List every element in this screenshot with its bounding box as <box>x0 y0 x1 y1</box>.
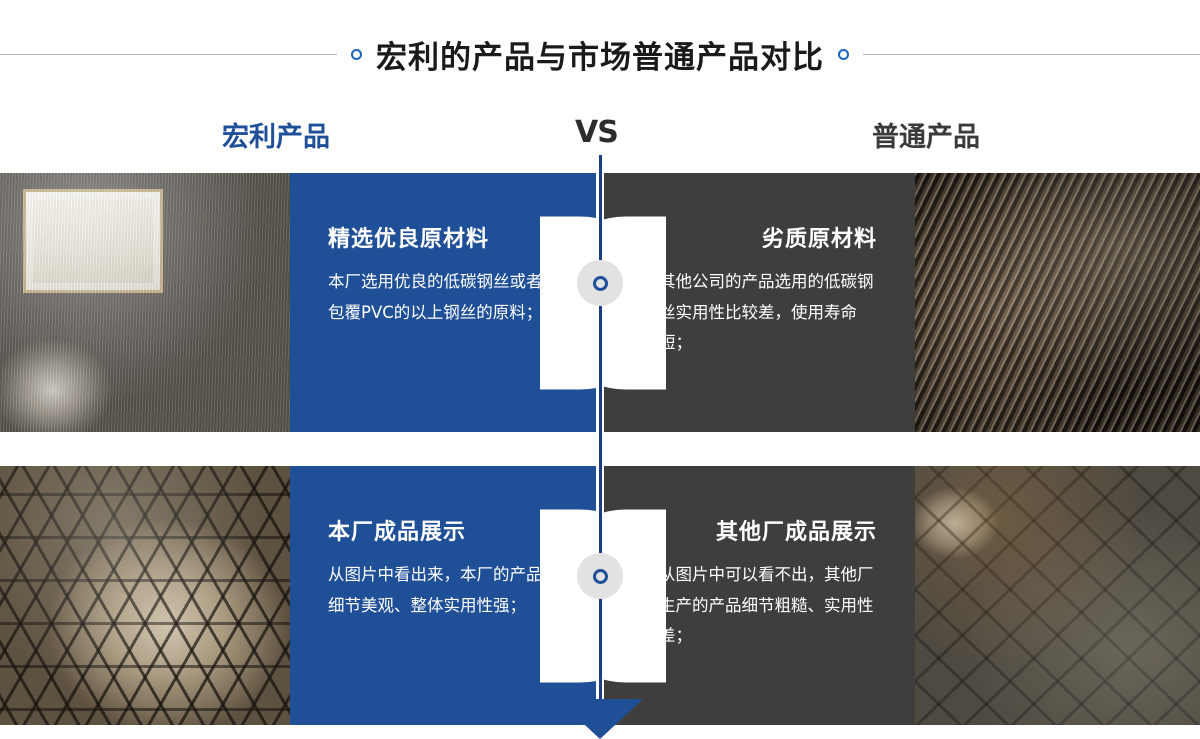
photo-our-material <box>0 173 290 432</box>
panel-our-finished-product: 本厂成品展示 从图片中看出来，本厂的产品细节美观、整体实用性强； <box>290 466 603 725</box>
page-title-bar: 宏利的产品与市场普通产品对比 <box>0 0 1200 108</box>
panel-title: 其他厂成品展示 <box>633 514 886 546</box>
panel-our-material: 精选优良原材料 本厂选用优良的低碳钢丝或者包覆PVC的以上钢丝的原料； <box>290 173 603 432</box>
panel-ordinary-finished-product: 其他厂成品展示 从图片中可以看不出，其他厂生产的产品细节粗糙、实用性差； <box>603 466 916 725</box>
heading-vs: VS <box>575 115 618 150</box>
ring-node-icon <box>593 569 608 584</box>
panel-body: 从图片中看出来，本厂的产品细节美观、整体实用性强； <box>328 560 546 621</box>
spine-node-1 <box>577 260 623 306</box>
rusty-wire-rod-image <box>915 173 1200 432</box>
page-title: 宏利的产品与市场普通产品对比 <box>376 32 824 77</box>
panel-body: 其他公司的产品选用的低碳钢丝实用性比较差，使用寿命短； <box>659 267 877 359</box>
photo-ordinary-finished-product <box>915 466 1200 725</box>
loose-boulders-image <box>915 466 1200 725</box>
title-rule-right <box>863 54 1200 55</box>
photo-ordinary-material <box>915 173 1200 432</box>
title-dot-left-icon <box>351 49 362 60</box>
panel-body: 本厂选用优良的低碳钢丝或者包覆PVC的以上钢丝的原料； <box>328 267 546 328</box>
panel-title: 劣质原材料 <box>633 221 886 253</box>
title-dot-right-icon <box>838 49 849 60</box>
photo-our-finished-product <box>0 466 290 725</box>
heading-ordinary-product: 普通产品 <box>872 115 980 154</box>
ring-node-icon <box>593 276 608 291</box>
steel-wire-coils-image <box>0 173 290 432</box>
heading-our-product: 宏利产品 <box>222 115 330 154</box>
gabion-mesh-image <box>0 466 290 725</box>
spine-node-2 <box>577 553 623 599</box>
panel-title: 本厂成品展示 <box>320 514 573 546</box>
panel-body: 从图片中可以看不出，其他厂生产的产品细节粗糙、实用性差； <box>659 560 877 652</box>
center-spine <box>596 155 604 718</box>
spine-line <box>599 155 602 718</box>
title-rule-left <box>0 54 337 55</box>
down-arrow-icon <box>557 699 643 739</box>
panel-title: 精选优良原材料 <box>320 221 573 253</box>
panel-ordinary-material: 劣质原材料 其他公司的产品选用的低碳钢丝实用性比较差，使用寿命短； <box>603 173 916 432</box>
